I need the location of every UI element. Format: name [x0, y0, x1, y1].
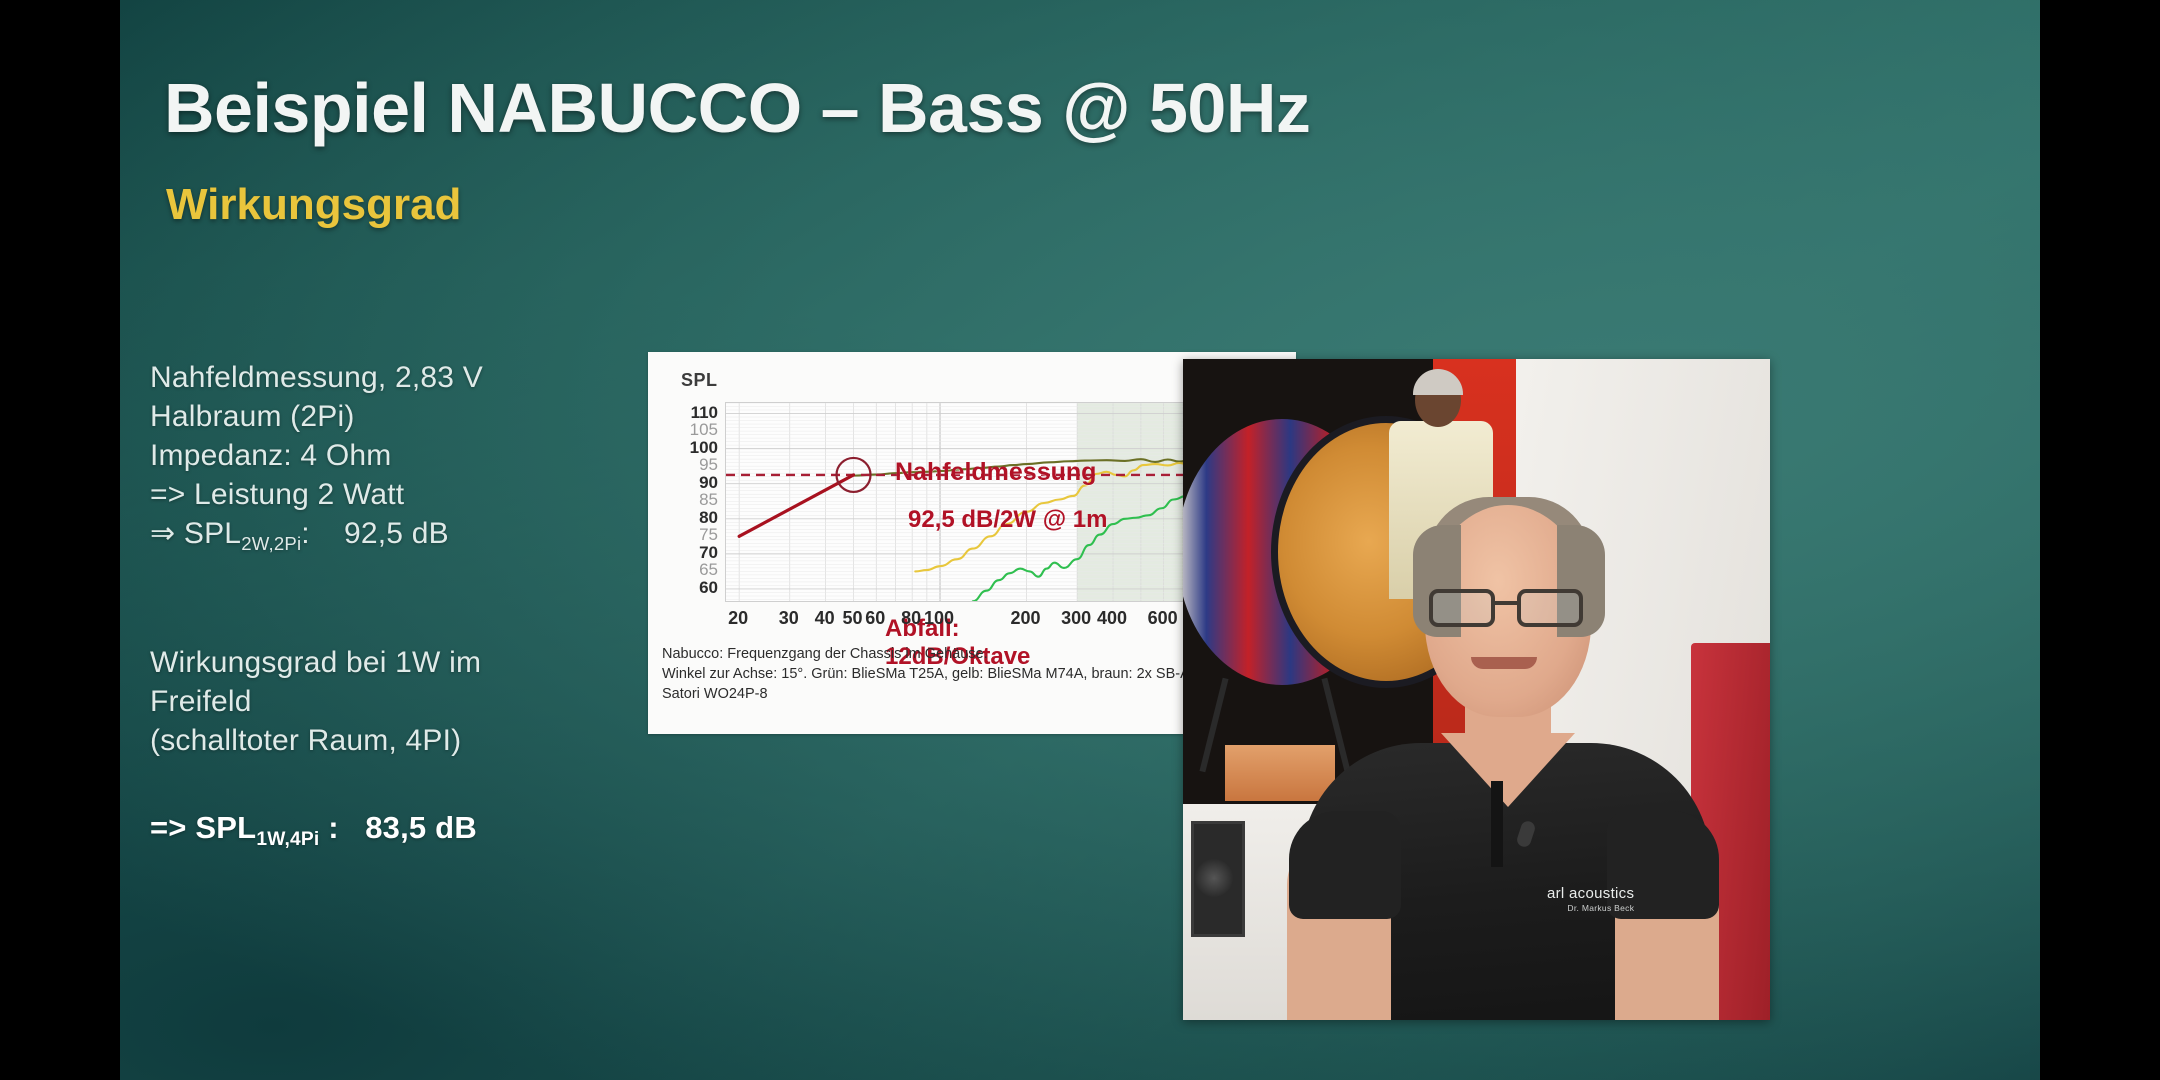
text-line: Halbraum (2Pi) — [150, 397, 483, 436]
text-line: Impedanz: 4 Ohm — [150, 436, 483, 475]
x-tick-label: 50 — [842, 608, 862, 629]
text-line: Freifeld — [150, 682, 481, 721]
text-block-efficiency: Wirkungsgrad bei 1W im Freifeld (schallt… — [150, 643, 481, 760]
y-tick-label: 105 — [690, 420, 718, 440]
text-line: Nahfeldmessung, 2,83 V — [150, 358, 483, 397]
y-tick-label: 65 — [699, 560, 718, 580]
glasses-lens-left — [1429, 589, 1495, 627]
x-tick-label: 60 — [865, 608, 885, 629]
spl-colon: : — [328, 810, 339, 845]
slide-subtitle: Wirkungsgrad — [166, 180, 461, 230]
spl-1w-line: => SPL1W,4Pi : 83,5 dB — [150, 808, 477, 859]
spl-value: 92,5 dB — [344, 517, 449, 550]
text-line: Wirkungsgrad bei 1W im — [150, 643, 481, 682]
y-tick-label: 110 — [691, 403, 718, 423]
y-tick-label: 80 — [699, 508, 718, 528]
x-tick-label: 40 — [815, 608, 835, 629]
y-tick-label: 90 — [699, 473, 718, 493]
glasses-bridge — [1495, 601, 1519, 605]
y-tick-label: 70 — [699, 543, 718, 563]
spl-2w-line: ⇒ SPL2W,2Pi: 92,5 dB — [150, 514, 483, 563]
spl-subscript: 1W,4Pi — [256, 829, 319, 850]
slide-title: Beispiel NABUCCO – Bass @ 50Hz — [164, 68, 1564, 148]
presenter: arl acoustics Dr. Markus Beck — [1295, 481, 1715, 1020]
plot-area: Nahfeldmessung 92,5 dB/2W @ 1m Abfall: 1… — [725, 402, 1220, 602]
letterbox-bar-right — [2040, 0, 2160, 1080]
presenter-placket — [1491, 781, 1503, 867]
x-tick-label: 80 — [901, 608, 921, 629]
annotation-value: 92,5 dB/2W @ 1m — [908, 506, 1107, 534]
x-tick-label: 300 — [1061, 608, 1091, 629]
x-tick-label: 400 — [1097, 608, 1127, 629]
y-axis-tick-labels: 6065707580859095100105110 — [648, 402, 718, 602]
presenter-mouth — [1471, 657, 1537, 669]
y-tick-label: 95 — [699, 455, 718, 475]
shirt-logo-subtext: Dr. Markus Beck — [1547, 903, 1634, 913]
spl-axis-label: SPL — [681, 370, 718, 391]
text-line: (schalltoter Raum, 4PI) — [150, 721, 481, 760]
spl-prefix: => SPL — [150, 810, 256, 845]
spl-colon: : — [301, 517, 310, 550]
spl-subscript: 2W,2Pi — [241, 533, 301, 554]
presenter-sleeve-left — [1289, 811, 1401, 919]
y-tick-label: 100 — [690, 438, 718, 458]
x-tick-label: 200 — [1010, 608, 1040, 629]
drummer-hair — [1413, 369, 1463, 395]
text-block-measurement: Nahfeldmessung, 2,83 V Halbraum (2Pi) Im… — [150, 358, 483, 563]
presentation-slide: Beispiel NABUCCO – Bass @ 50Hz Wirkungsg… — [118, 0, 2040, 1080]
y-tick-label: 75 — [699, 525, 718, 545]
webcam-video-panel[interactable]: arl acoustics Dr. Markus Beck — [1183, 359, 1770, 1020]
spl-value: 83,5 dB — [365, 810, 477, 845]
chart-series — [726, 403, 1220, 602]
shirt-logo-text: arl acoustics — [1547, 885, 1634, 902]
screen: Beispiel NABUCCO – Bass @ 50Hz Wirkungsg… — [0, 0, 2160, 1080]
shirt-logo: arl acoustics Dr. Markus Beck — [1547, 885, 1634, 913]
glasses-lens-right — [1517, 589, 1583, 627]
letterbox-bar-left — [0, 0, 120, 1080]
speaker-cone-icon — [1195, 859, 1233, 897]
x-tick-label: 30 — [779, 608, 799, 629]
x-axis-tick-labels: 203040506080100200300400600800 — [725, 608, 1220, 634]
x-tick-label: 100 — [924, 608, 954, 629]
x-tick-label: 600 — [1148, 608, 1178, 629]
x-tick-label: 20 — [728, 608, 748, 629]
glasses-icon — [1427, 589, 1591, 629]
annotation-headline: Nahfeldmessung — [895, 458, 1096, 487]
y-tick-label: 60 — [699, 578, 718, 598]
spl-prefix: ⇒ SPL — [150, 517, 241, 550]
y-tick-label: 85 — [699, 490, 718, 510]
text-line: => Leistung 2 Watt — [150, 475, 483, 514]
plot-canvas — [725, 402, 1220, 602]
